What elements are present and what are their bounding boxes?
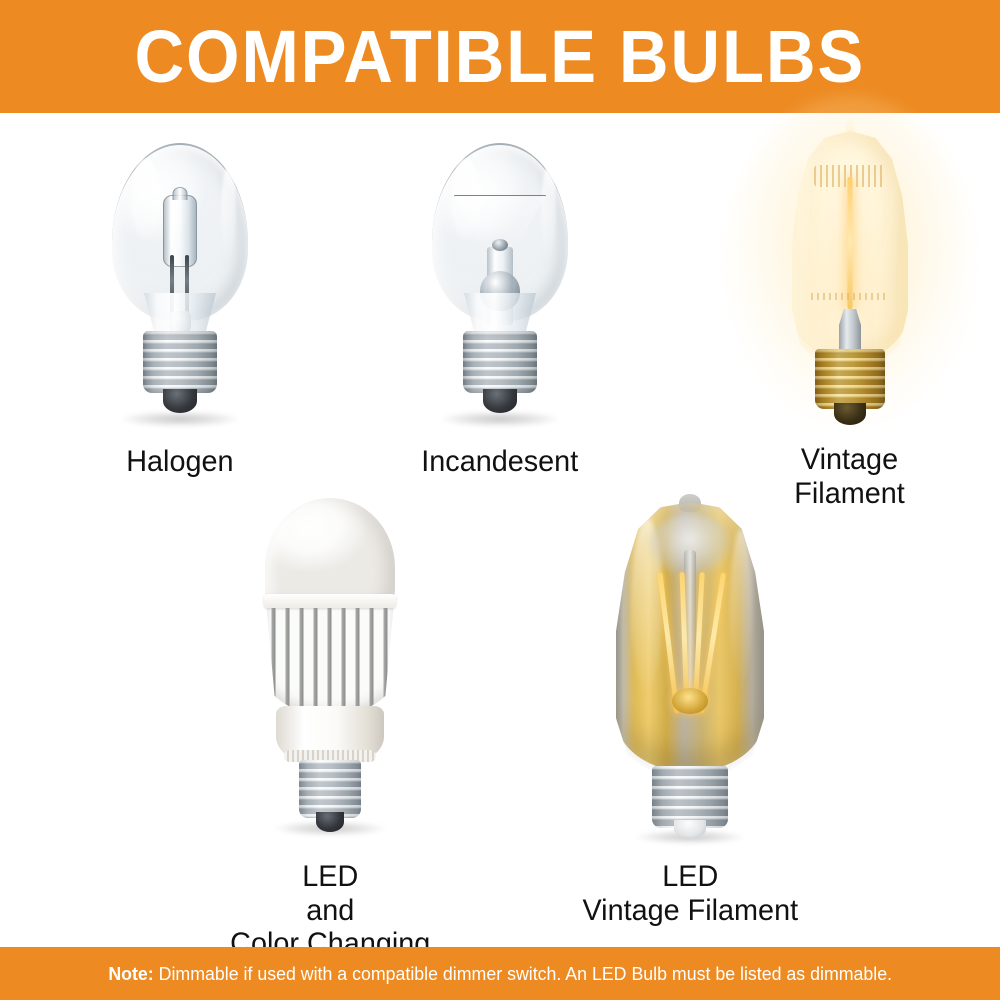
bulb-card-incandesent: Incandesent [360, 143, 640, 479]
bulb-label-incandesent: Incandesent [422, 445, 579, 479]
base-contact-tip [316, 812, 344, 832]
screw-base-silver [299, 760, 361, 818]
base-contact-tip [834, 403, 866, 425]
bulb-shadow [440, 411, 560, 427]
screw-base-silver [652, 766, 728, 828]
led-bulb-image [230, 498, 430, 838]
filament-hook [492, 239, 508, 251]
screw-base-silver [463, 331, 537, 393]
bulb-label-halogen: Halogen [126, 445, 233, 479]
bulb-label-led: LED and Color Changing [230, 860, 430, 961]
glass-stem [839, 309, 861, 351]
filament-strand [848, 177, 853, 309]
screw-base-silver [143, 331, 217, 393]
filament-coil-bottom [811, 293, 889, 300]
bulb-card-led-vintage-filament: LED Vintage Filament [520, 488, 860, 927]
base-contact-tip [483, 389, 517, 413]
screw-base-brass [815, 349, 885, 409]
led-heat-sink-fins [266, 602, 394, 714]
base-contact-tip [674, 820, 706, 838]
bulb-shadow [120, 411, 240, 427]
bulb-card-led: LED and Color Changing [180, 498, 480, 961]
halogen-bulb-image [80, 143, 280, 429]
bulb-card-halogen: Halogen [40, 143, 320, 479]
vintage-filament-bulb-image [725, 113, 975, 433]
footer-note: Note: Dimmable if used with a compatible… [108, 963, 892, 985]
incandescent-bulb-image [400, 143, 600, 429]
footer-note-banner: Note: Dimmable if used with a compatible… [0, 947, 1000, 1000]
bulb-card-vintage-filament: Vintage Filament [700, 113, 1000, 510]
bulb-gallery: Halogen Incandesent Vintag [0, 113, 1000, 947]
footer-note-label: Note: [108, 963, 153, 984]
filament-base-node [672, 688, 708, 714]
base-contact-tip [163, 389, 197, 413]
led-vintage-filament-bulb-image [580, 488, 800, 848]
footer-note-text: Dimmable if used with a compatible dimme… [154, 963, 892, 984]
page-title: COMPATIBLE BULBS [135, 20, 866, 94]
led-collar-ring [264, 594, 396, 608]
bulb-label-led-vintage-filament: LED Vintage Filament [582, 860, 798, 927]
